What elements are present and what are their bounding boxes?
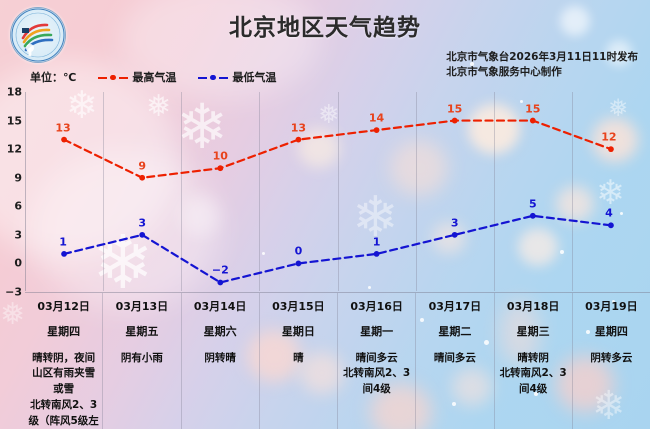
day-weekday: 星期日: [260, 325, 337, 339]
data-point-marker: [608, 146, 614, 152]
data-point-marker: [530, 118, 536, 124]
data-point-label: 10: [213, 150, 228, 163]
day-weekday: 星期五: [103, 325, 180, 339]
data-point-label: 12: [601, 131, 616, 144]
y-axis-tick-6: 6: [0, 200, 22, 213]
day-weekday: 星期二: [416, 325, 493, 339]
data-point-marker: [61, 251, 67, 257]
temperature-chart: 1815129630−3 13910131415151213−201354: [25, 90, 650, 293]
day-date: 03月13日: [103, 300, 180, 314]
data-point-label: 3: [451, 216, 459, 229]
data-point-marker: [217, 165, 223, 171]
snowflake-icon: ❅: [0, 300, 25, 330]
data-point-label: 9: [138, 159, 146, 172]
data-point-label: 1: [373, 235, 381, 248]
forecast-day-column: 03月18日星期三晴转阴北转南风2、3间4级: [494, 293, 572, 429]
day-weekday: 星期三: [495, 325, 572, 339]
issuer-line-2: 北京市气象服务中心制作: [446, 65, 638, 80]
day-weather-description: 阴转多云: [573, 351, 650, 367]
day-weekday: 星期一: [338, 325, 415, 339]
data-point-label: 15: [447, 102, 462, 115]
day-weather-description: 晴间多云: [338, 351, 415, 367]
forecast-day-column: 03月15日星期日晴: [259, 293, 337, 429]
data-point-marker: [374, 251, 380, 257]
data-point-label: 0: [295, 245, 303, 258]
data-point-marker: [296, 261, 302, 267]
y-axis-tick-18: 18: [0, 86, 22, 99]
forecast-day-column: 03月12日星期四晴转阴，夜间山区有雨夹雪或雪北转南风2、3级（阵风5级左右）: [25, 293, 102, 429]
data-point-marker: [296, 137, 302, 143]
data-point-marker: [452, 118, 458, 124]
legend-label-high: 最高气温: [132, 69, 176, 85]
data-point-label: 13: [291, 121, 306, 134]
data-point-marker: [139, 175, 145, 181]
day-date: 03月14日: [182, 300, 259, 314]
day-date: 03月18日: [495, 300, 572, 314]
data-point-marker: [452, 232, 458, 238]
data-point-label: −2: [212, 264, 229, 277]
day-weekday: 星期六: [182, 325, 259, 339]
data-point-marker: [374, 127, 380, 133]
issuer-info: 北京市气象台2026年3月11日11时发布 北京市气象服务中心制作: [446, 50, 638, 80]
data-point-marker: [530, 213, 536, 219]
data-point-marker: [608, 222, 614, 228]
data-point-label: 15: [525, 102, 540, 115]
data-point-label: 5: [529, 197, 537, 210]
y-axis-tick-3: 3: [0, 228, 22, 241]
series-line-low: [64, 216, 611, 283]
y-axis-tick-12: 12: [0, 143, 22, 156]
day-date: 03月12日: [25, 300, 102, 314]
y-axis-tick-0: 0: [0, 257, 22, 270]
data-point-marker: [61, 137, 67, 143]
forecast-day-column: 03月16日星期一晴间多云北转南风2、3间4级: [337, 293, 415, 429]
day-weather-description: 晴: [260, 351, 337, 367]
day-date: 03月15日: [260, 300, 337, 314]
weather-trend-poster: ❄ ❄ ❅ ❄ ❄ ❅ ❄ ❅ ❄ ❅ 北京地区天气趋势 北京市气象台2026年…: [0, 0, 650, 429]
data-point-label: 13: [55, 121, 70, 134]
day-wind-description: 北转南风2、3间4级: [338, 366, 415, 398]
data-point-label: 4: [605, 207, 613, 220]
y-axis-tick-15: 15: [0, 114, 22, 127]
y-axis-tick-9: 9: [0, 171, 22, 184]
day-weather-description: 晴转阴: [495, 351, 572, 367]
data-point-label: 14: [369, 112, 384, 125]
data-point-label: 1: [59, 235, 67, 248]
legend-item-high-temp: 最高气温: [98, 69, 176, 85]
forecast-day-column: 03月17日星期二晴间多云: [415, 293, 493, 429]
chart-series-svg: [25, 90, 650, 293]
unit-label: 单位：℃: [30, 69, 76, 85]
day-weather-description: 阴转晴: [182, 351, 259, 367]
page-title: 北京地区天气趋势: [0, 8, 650, 42]
day-weather-description: 晴间多云: [416, 351, 493, 367]
legend-line-low-icon: [198, 73, 228, 82]
chart-legend: 单位：℃ 最高气温 最低气温: [30, 69, 276, 85]
legend-item-low-temp: 最低气温: [198, 69, 276, 85]
series-line-high: [64, 121, 611, 178]
forecast-day-column: 03月13日星期五阴有小雨: [102, 293, 180, 429]
legend-label-low: 最低气温: [232, 69, 276, 85]
forecast-day-columns: 03月12日星期四晴转阴，夜间山区有雨夹雪或雪北转南风2、3级（阵风5级左右）0…: [25, 293, 650, 429]
issuer-line-1: 北京市气象台2026年3月11日11时发布: [446, 50, 638, 65]
data-point-label: 3: [138, 216, 146, 229]
day-weekday: 星期四: [573, 325, 650, 339]
day-wind-description: 北转南风2、3级（阵风5级左右）: [25, 398, 102, 429]
day-weekday: 星期四: [25, 325, 102, 339]
day-weather-description: 阴有小雨: [103, 351, 180, 367]
day-date: 03月16日: [338, 300, 415, 314]
day-date: 03月17日: [416, 300, 493, 314]
day-weather-description: 晴转阴，夜间山区有雨夹雪或雪: [25, 351, 102, 398]
forecast-day-column: 03月14日星期六阴转晴: [181, 293, 259, 429]
day-date: 03月19日: [573, 300, 650, 314]
legend-line-high-icon: [98, 73, 128, 82]
data-point-marker: [217, 280, 223, 286]
day-wind-description: 北转南风2、3间4级: [495, 366, 572, 398]
data-point-marker: [139, 232, 145, 238]
y-axis-tick--3: −3: [0, 286, 22, 299]
forecast-day-column: 03月19日星期四阴转多云: [572, 293, 650, 429]
